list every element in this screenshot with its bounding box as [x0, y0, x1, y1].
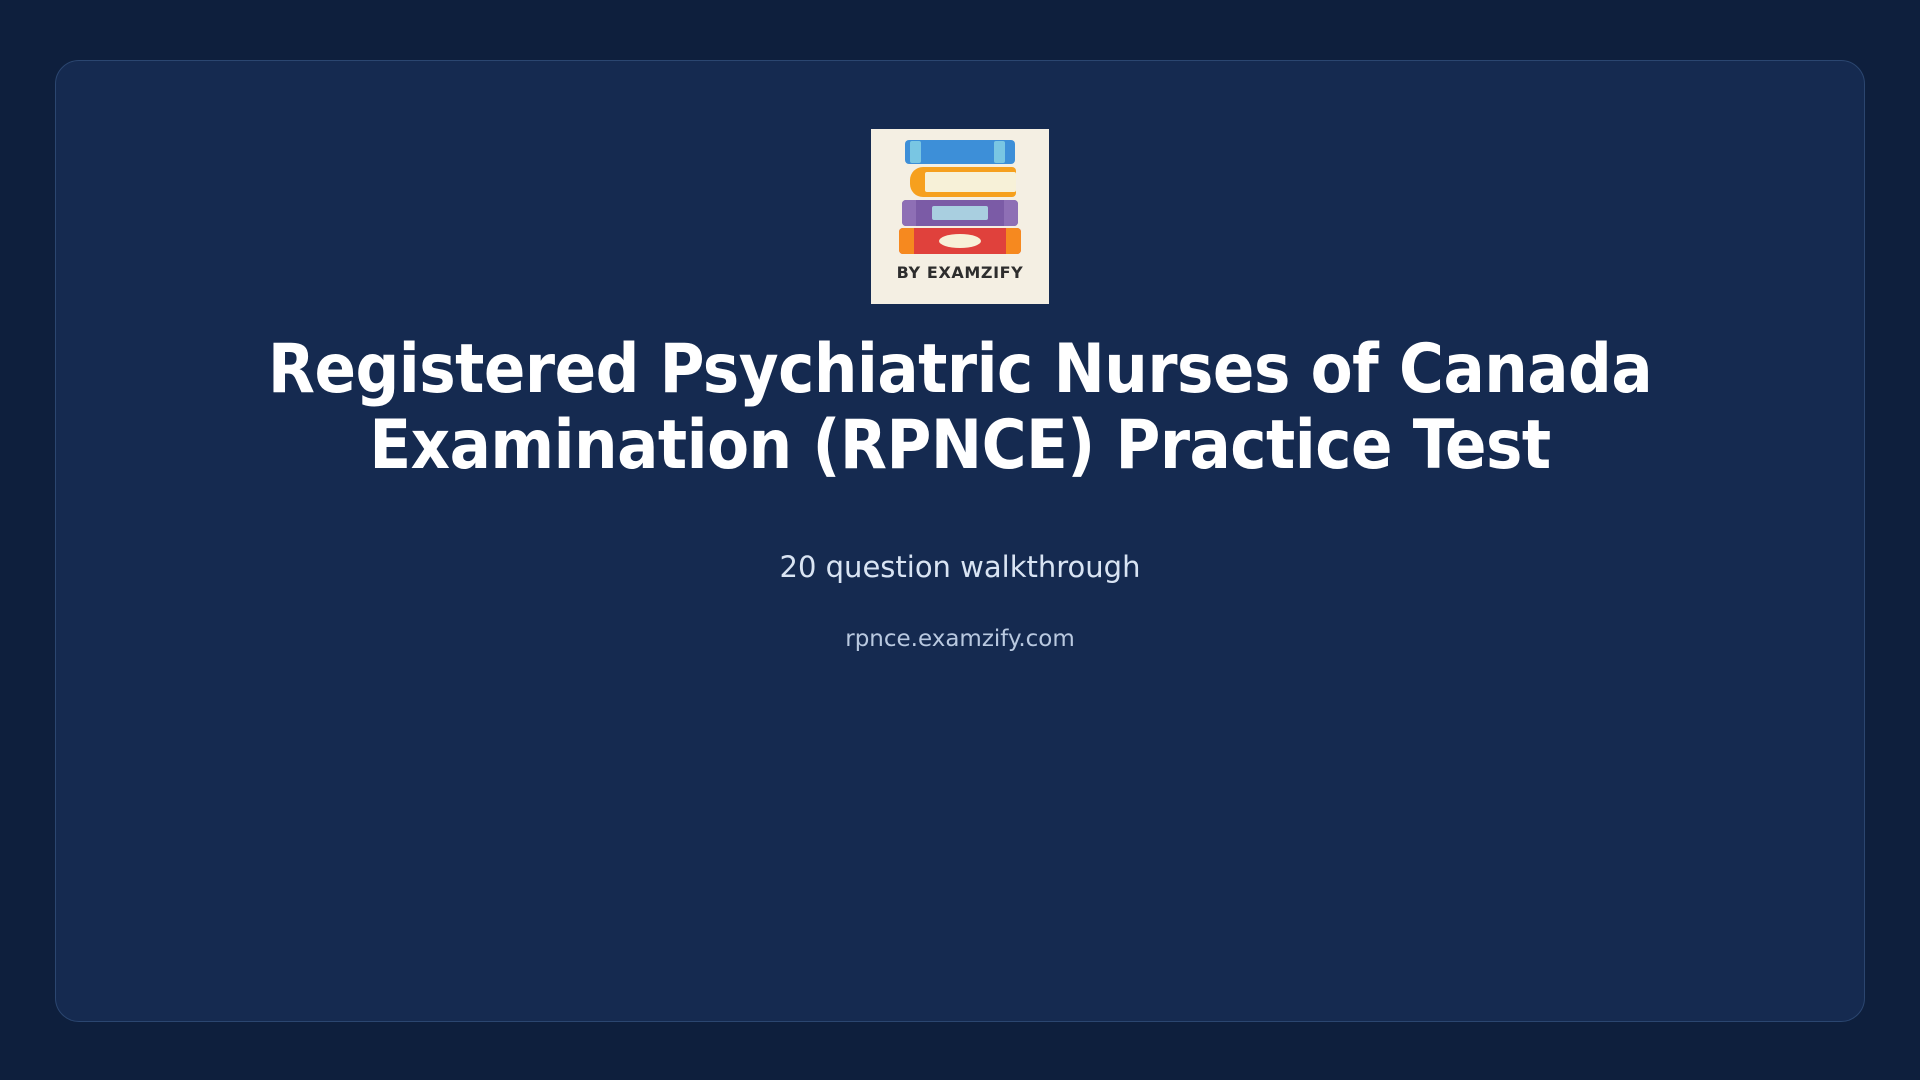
site-url: rpnce.examzify.com	[845, 626, 1075, 652]
purple-book-label-icon	[932, 206, 988, 220]
red-book-emblem-icon	[939, 234, 981, 248]
red-book-left-band-icon	[899, 228, 914, 254]
book-stack-icon	[899, 140, 1021, 254]
title-card: BY EXAMZIFY Registered Psychiatric Nurse…	[55, 60, 1865, 1022]
slide-root: BY EXAMZIFY Registered Psychiatric Nurse…	[0, 0, 1920, 1080]
page-title: Registered Psychiatric Nurses of Canada …	[100, 332, 1820, 484]
logo-caption: BY EXAMZIFY	[871, 263, 1049, 282]
slide-subtitle: 20 question walkthrough	[780, 550, 1141, 584]
blue-book-left-band-icon	[910, 141, 921, 163]
card-content: BY EXAMZIFY Registered Psychiatric Nurse…	[56, 61, 1864, 652]
blue-book-right-band-icon	[994, 141, 1005, 163]
examzify-logo: BY EXAMZIFY	[871, 129, 1049, 304]
orange-book-pages-icon	[925, 172, 1016, 192]
red-book-right-band-icon	[1006, 228, 1021, 254]
purple-book-right-band-icon	[1004, 200, 1018, 226]
purple-book-left-band-icon	[902, 200, 916, 226]
